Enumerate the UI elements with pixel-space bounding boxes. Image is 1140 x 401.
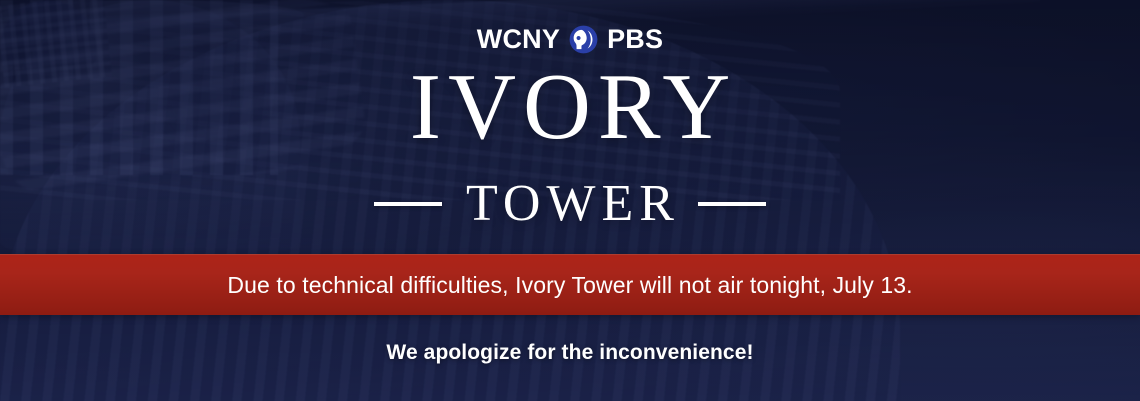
alert-message: Due to technical difficulties, Ivory Tow… (227, 272, 912, 299)
network-name: PBS (607, 26, 663, 53)
station-call-letters: WCNY (477, 26, 560, 53)
broadcast-notice-banner: WCNY PBS IVORY TOWER Due to technical di… (0, 0, 1140, 401)
alert-banner: Due to technical difficulties, Ivory Tow… (0, 254, 1140, 315)
pbs-head-profile-icon (569, 25, 598, 54)
program-subtitle: TOWER (460, 178, 680, 230)
program-title: IVORY (0, 60, 1140, 154)
horizontal-rule-right-icon (698, 202, 766, 206)
network-logo-lockup: WCNY PBS (0, 25, 1140, 54)
horizontal-rule-left-icon (374, 202, 442, 206)
program-subtitle-row: TOWER (0, 178, 1140, 230)
apology-message: We apologize for the inconvenience! (0, 341, 1140, 365)
